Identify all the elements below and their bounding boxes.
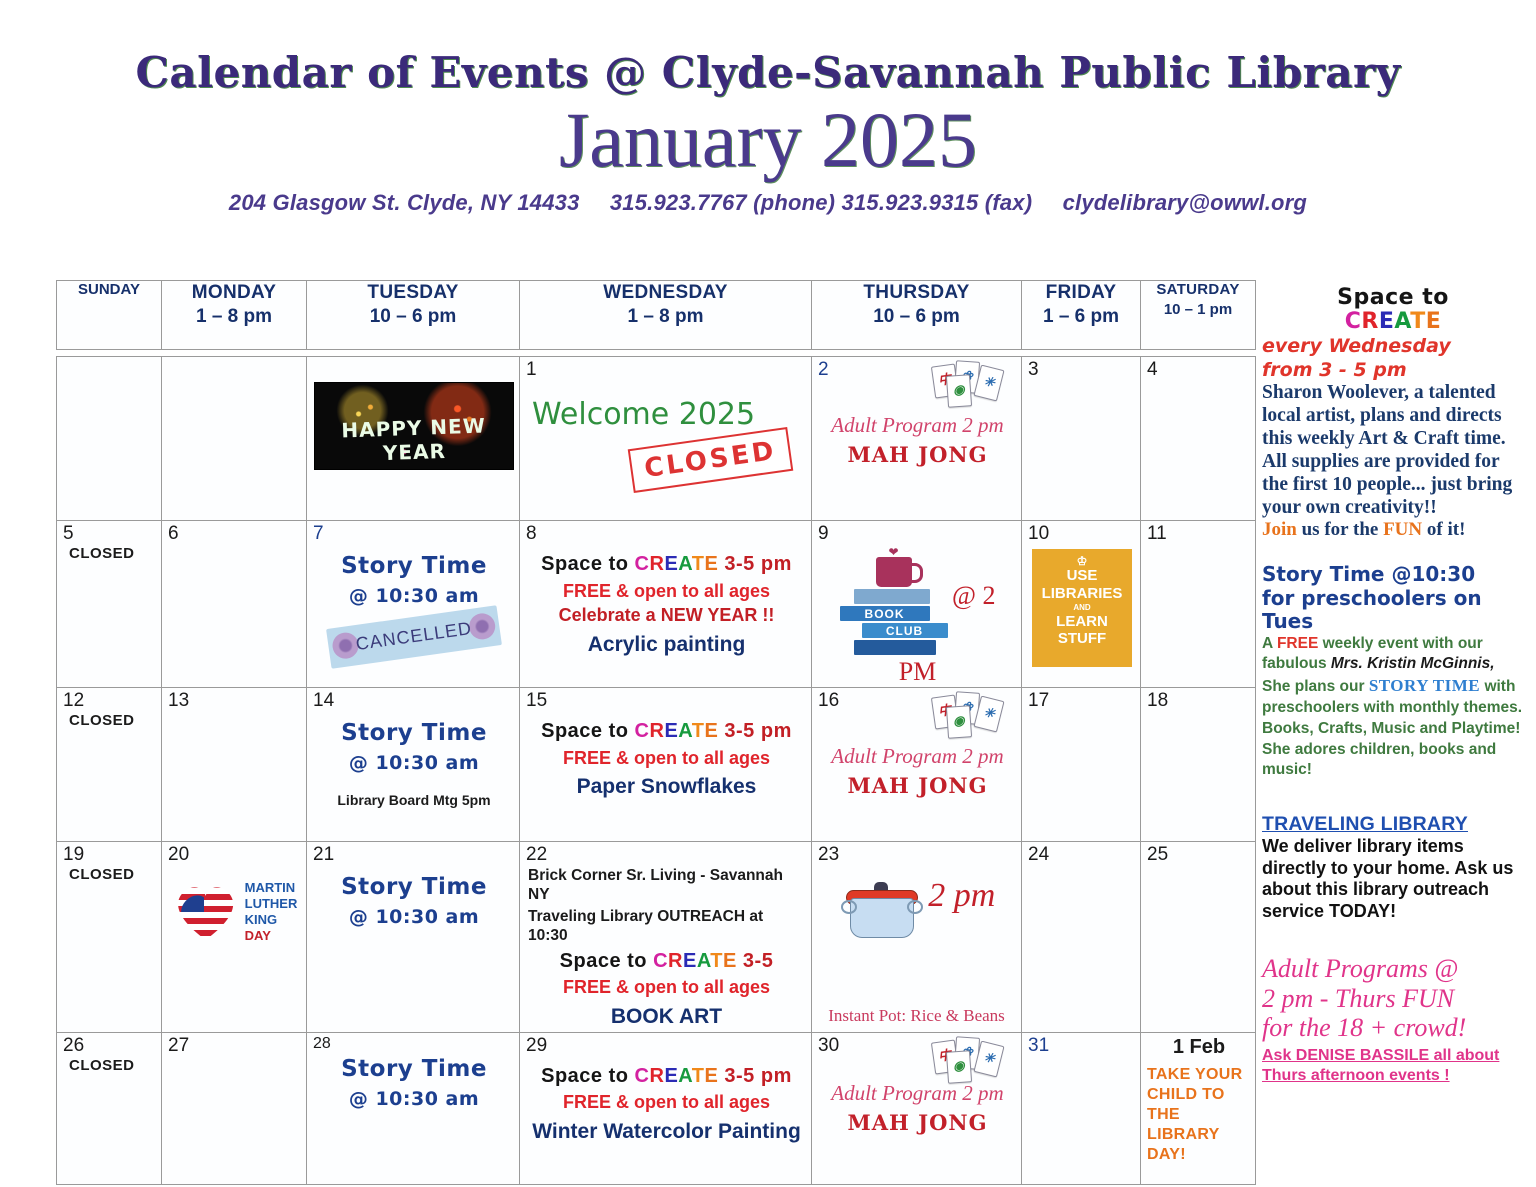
- story-time-time: @ 10:30 am: [313, 752, 515, 774]
- page-title: Calendar of Events @ Clyde-Savannah Publ…: [0, 52, 1536, 94]
- book-icon: CLUB: [862, 623, 948, 638]
- week-row-4: 19 CLOSED 20 MARTIN LUTHER KING DAY 21: [57, 842, 1256, 1033]
- day-cell-8[interactable]: 8 Space to CREATE 3-5 pm FREE & open to …: [520, 521, 812, 688]
- day-cell-3[interactable]: 3: [1022, 357, 1141, 521]
- day-number: 29: [526, 1036, 807, 1055]
- contact-line: 204 Glasgow St. Clyde, NY 14433 315.923.…: [0, 190, 1536, 216]
- create-time: 3-5 pm: [724, 553, 791, 575]
- book-icon: [854, 640, 936, 655]
- space-to-create-block: Space to CREATE 3-5 pm FREE & open to al…: [526, 718, 807, 802]
- space-to-text: Space to: [541, 720, 628, 742]
- day-cell-14[interactable]: 14 Story Time @ 10:30 am Library Board M…: [307, 688, 520, 842]
- day-cell-7[interactable]: 7 Story Time @ 10:30 am CANCELLED: [307, 521, 520, 688]
- sidebar-story-time-title: Story Time @10:30: [1262, 563, 1524, 587]
- day-number: 10: [1028, 524, 1136, 543]
- welcome-2025-text: Welcome 2025: [532, 397, 807, 432]
- calendar-grid: SUNDAY MONDAY 1 – 8 pm TUESDAY 10 – 6 pm…: [56, 280, 1255, 1185]
- day-number: 14: [313, 691, 515, 710]
- create-word: CREATE: [635, 1065, 719, 1087]
- create-time: 3-5: [743, 950, 773, 972]
- day-cell-10[interactable]: 10 ♔ USE LIBRARIES AND LEARN STUFF: [1022, 521, 1141, 688]
- library-address: 204 Glasgow St. Clyde, NY 14433: [229, 190, 580, 215]
- story-time-label: Story Time @ 10:30 am: [313, 1056, 515, 1110]
- column-header-thursday: THURSDAY 10 – 6 pm: [812, 281, 1022, 350]
- day-cell-27[interactable]: 27: [162, 1032, 307, 1184]
- week-row-1: HAPPY NEW YEAR 1 Welcome 2025 CLOSED 2 中…: [57, 357, 1256, 521]
- instant-pot-icon: [840, 880, 924, 938]
- day-number: 18: [1147, 691, 1251, 710]
- day-cell-feb-1[interactable]: 1 Feb TAKE YOUR CHILD TO THE LIBRARY DAY…: [1141, 1032, 1256, 1184]
- create-word: CREATE: [635, 720, 719, 742]
- free-all-ages: FREE & open to all ages: [526, 1090, 807, 1115]
- day-number: 22: [526, 845, 807, 864]
- mlk-line-1: MARTIN: [245, 880, 298, 896]
- week-row-5: 26 CLOSED 27 28 Story Time @ 10:30 am 29…: [57, 1032, 1256, 1184]
- column-header-friday: FRIDAY 1 – 6 pm: [1022, 281, 1141, 350]
- day-number: 1: [526, 360, 807, 379]
- day-number: 25: [1147, 845, 1251, 864]
- coffee-mug-icon: [876, 557, 912, 587]
- create-time: 3-5 pm: [724, 1065, 791, 1087]
- day-number: 3: [1028, 360, 1136, 379]
- day-cell-6[interactable]: 6: [162, 521, 307, 688]
- book-icon: [854, 589, 930, 604]
- day-cell-21[interactable]: 21 Story Time @ 10:30 am: [307, 842, 520, 1033]
- story-time-label: Story Time @ 10:30 am: [313, 720, 515, 774]
- week-row-3: 12 CLOSED 13 14 Story Time @ 10:30 am Li…: [57, 688, 1256, 842]
- day-cell-18[interactable]: 18: [1141, 688, 1256, 842]
- outreach-line-1: Brick Corner Sr. Living - Savannah NY: [528, 866, 807, 905]
- sidebar-ap-line-2: 2 pm - Thurs FUN: [1262, 984, 1524, 1013]
- take-child-to-library-day: TAKE YOUR CHILD TO THE LIBRARY DAY!: [1147, 1065, 1251, 1165]
- adult-program-label: Adult Program 2 pm: [818, 413, 1017, 438]
- create-word: CREATE: [635, 553, 719, 575]
- mlk-day-block: MARTIN LUTHER KING DAY: [168, 880, 302, 944]
- sidebar-story-time-body: A FREE weekly event with our fabulous Mr…: [1262, 634, 1524, 781]
- free-all-ages: FREE & open to all ages: [526, 975, 807, 1000]
- day-number: 21: [313, 845, 515, 864]
- cancelled-text: CANCELLED: [327, 614, 500, 659]
- sidebar-adult-programs: Adult Programs @ 2 pm - Thurs FUN for th…: [1262, 954, 1524, 1086]
- story-time-word: STORY TIME: [1369, 676, 1480, 695]
- day-number: 31: [1028, 1036, 1136, 1055]
- day-cell-4[interactable]: 4: [1141, 357, 1256, 521]
- event-block: Story Time @ 10:30 am: [313, 1056, 515, 1110]
- day-cell-22[interactable]: 22 Brick Corner Sr. Living - Savannah NY…: [520, 842, 812, 1033]
- story-time-title: Story Time: [341, 720, 487, 746]
- day-number: 27: [168, 1036, 302, 1055]
- mahjong-tiles-icon: 中❀✳◉: [933, 361, 1007, 413]
- sidebar-stc-when-1: every Wednesday: [1262, 336, 1524, 357]
- instructor-name: Mrs. Kristin McGinnis,: [1331, 655, 1495, 672]
- day-number: 7: [313, 524, 515, 543]
- library-email[interactable]: clydelibrary@owwl.org: [1063, 190, 1308, 215]
- day-number: 11: [1147, 524, 1251, 543]
- space-to-text: Space to: [541, 1065, 628, 1087]
- column-header-saturday: SATURDAY 10 – 1 pm: [1141, 281, 1256, 350]
- day-cell-empty: [162, 357, 307, 521]
- create-time: 3-5 pm: [724, 720, 791, 742]
- mlk-day-text: MARTIN LUTHER KING DAY: [245, 880, 298, 944]
- book-club-text: BOOK: [840, 607, 930, 621]
- library-board-meeting: Library Board Mtg 5pm: [313, 792, 515, 808]
- cancelled-stamp: CANCELLED: [326, 605, 502, 669]
- activity-name: BOOK ART: [526, 1003, 807, 1032]
- instant-pot-label: Instant Pot: Rice & Beans: [812, 1006, 1021, 1026]
- day-number: 6: [168, 524, 302, 543]
- event-block: Story Time @ 10:30 am Library Board Mtg …: [313, 720, 515, 808]
- activity-name: Acrylic painting: [526, 631, 807, 660]
- event-block: Story Time @ 10:30 am CANCELLED: [313, 553, 515, 657]
- event-block: Adult Program 2 pm MAH JONG: [818, 413, 1017, 467]
- closed-label: CLOSED: [69, 712, 157, 729]
- poster-line-3: LEARN: [1032, 613, 1132, 630]
- day-number: 15: [526, 691, 807, 710]
- mlk-line-2: LUTHER: [245, 896, 298, 912]
- day-cell-5[interactable]: 5 CLOSED: [57, 521, 162, 688]
- day-number: 23: [818, 845, 1017, 864]
- day-cell-15[interactable]: 15 Space to CREATE 3-5 pm FREE & open to…: [520, 688, 812, 842]
- day-cell-12[interactable]: 12 CLOSED: [57, 688, 162, 842]
- story-time-title: Story Time: [341, 553, 487, 579]
- space-to-create-block: Space to CREATE 3-5 FREE & open to all a…: [526, 948, 807, 1032]
- day-cell-16[interactable]: 16 中❀✳◉ Adult Program 2 pm MAH JONG: [812, 688, 1022, 842]
- column-header-wednesday: WEDNESDAY 1 – 8 pm: [520, 281, 812, 350]
- sidebar-story-time-subtitle: for preschoolers on Tues: [1262, 587, 1524, 634]
- month-year-title: January 2025: [0, 100, 1536, 180]
- day-cell-9[interactable]: 9 ❤ BOOK CLUB @ 2 PM: [812, 521, 1022, 688]
- outreach-line-2: Traveling Library OUTREACH at 10:30: [528, 907, 807, 946]
- mahjong-tiles-icon: 中❀✳◉: [933, 692, 1007, 744]
- story-time-time: @ 10:30 am: [313, 585, 515, 607]
- day-cell-30[interactable]: 30 中❀✳◉ Adult Program 2 pm MAH JONG: [812, 1032, 1022, 1184]
- day-cell-20[interactable]: 20 MARTIN LUTHER KING DAY: [162, 842, 307, 1033]
- story-time-title: Story Time: [341, 874, 487, 900]
- space-to-create-block: Space to CREATE 3-5 pm FREE & open to al…: [526, 1063, 807, 1147]
- event-block: Story Time @ 10:30 am: [313, 874, 515, 928]
- day-cell-31[interactable]: 31: [1022, 1032, 1141, 1184]
- info-sidebar: Space to CREATE every Wednesday from 3 -…: [1262, 286, 1524, 1101]
- day-cell-1[interactable]: 1 Welcome 2025 CLOSED: [520, 357, 812, 521]
- join-post: of it!: [1422, 519, 1465, 540]
- sidebar-stc-body: Sharon Woolever, a talented local artist…: [1262, 381, 1524, 519]
- space-to-text: Space to: [541, 553, 628, 575]
- story-time-label: Story Time @ 10:30 am: [313, 874, 515, 928]
- day-number: 24: [1028, 845, 1136, 864]
- heart-icon: ❤: [840, 547, 948, 557]
- sidebar-traveling-library: TRAVELING LIBRARY We deliver library ite…: [1262, 813, 1524, 922]
- space-to-create-block: Space to CREATE 3-5 pm FREE & open to al…: [526, 551, 807, 660]
- adult-program-label: Adult Program 2 pm: [818, 744, 1017, 769]
- sidebar-tl-body: We deliver library items directly to you…: [1262, 836, 1524, 922]
- fun-word: FUN: [1383, 519, 1422, 540]
- day-cell-17[interactable]: 17: [1022, 688, 1141, 842]
- day-cell-28[interactable]: 28 Story Time @ 10:30 am: [307, 1032, 520, 1184]
- poster-line-1: USE: [1032, 567, 1132, 585]
- closed-label: CLOSED: [69, 866, 157, 883]
- column-header-tuesday: TUESDAY 10 – 6 pm: [307, 281, 520, 350]
- join-mid: us for the: [1297, 519, 1383, 540]
- sidebar-stc-when-2: from 3 - 5 pm: [1262, 360, 1524, 381]
- feb-1-label: 1 Feb: [1147, 1036, 1251, 1059]
- st-body-3: She plans our: [1262, 678, 1369, 695]
- book-club-icon: ❤ BOOK CLUB: [840, 547, 948, 657]
- sidebar-st-title-time: @10:30: [1384, 562, 1475, 586]
- happy-new-year-text: HAPPY NEW YEAR: [314, 412, 514, 467]
- day-number: 9: [818, 524, 1017, 543]
- sidebar-stc-join: Join us for the FUN of it!: [1262, 519, 1524, 541]
- sidebar-tl-title: TRAVELING LIBRARY: [1262, 813, 1524, 836]
- day-number: 26: [63, 1036, 157, 1055]
- story-time-time: @ 10:30 am: [313, 1088, 515, 1110]
- day-cell-19[interactable]: 19 CLOSED: [57, 842, 162, 1033]
- event-block: Adult Program 2 pm MAH JONG: [818, 1081, 1017, 1135]
- day-number: 13: [168, 691, 302, 710]
- sidebar-space-to-text: Space to: [1337, 285, 1449, 310]
- day-number: 19: [63, 845, 157, 864]
- day-cell-empty: [57, 357, 162, 521]
- library-phone-fax: 315.923.7767 (phone) 315.923.9315 (fax): [610, 190, 1032, 215]
- activity-name: Paper Snowflakes: [526, 773, 807, 802]
- poster-and: AND: [1032, 602, 1132, 613]
- book-icon: BOOK: [840, 606, 930, 621]
- event-block: 2 pm: [818, 866, 1017, 938]
- use-libraries-poster: ♔ USE LIBRARIES AND LEARN STUFF: [1032, 549, 1132, 667]
- poster-line-2: LIBRARIES: [1032, 585, 1132, 602]
- event-block: ❤ BOOK CLUB @ 2 PM: [818, 543, 1017, 687]
- day-cell-24[interactable]: 24: [1022, 842, 1141, 1033]
- day-cell-11[interactable]: 11: [1141, 521, 1256, 688]
- day-number: 28: [313, 1036, 515, 1052]
- day-cell-29[interactable]: 29 Space to CREATE 3-5 pm FREE & open to…: [520, 1032, 812, 1184]
- closed-label: CLOSED: [69, 545, 157, 562]
- day-number: 17: [1028, 691, 1136, 710]
- st-body-1: A: [1262, 635, 1277, 652]
- event-block: Adult Program 2 pm MAH JONG: [818, 744, 1017, 798]
- sidebar-create-word: CREATE: [1345, 309, 1442, 334]
- day-number: 12: [63, 691, 157, 710]
- book-club-text: CLUB: [862, 624, 948, 638]
- mlk-line-4: DAY: [245, 928, 298, 944]
- day-cell-newyear-image: HAPPY NEW YEAR: [307, 357, 520, 521]
- closed-stamp-wrap: CLOSED: [526, 438, 791, 482]
- column-header-monday: MONDAY 1 – 8 pm: [162, 281, 307, 350]
- instant-pot-time: 2 pm: [928, 877, 995, 914]
- day-number: 20: [168, 845, 302, 864]
- sidebar-ap-line-1: Adult Programs @: [1262, 954, 1524, 983]
- story-time-time: @ 10:30 am: [313, 906, 515, 928]
- day-cell-13[interactable]: 13: [162, 688, 307, 842]
- join-word: Join: [1262, 519, 1297, 540]
- crown-icon: ♔: [1032, 555, 1132, 567]
- free-all-ages: FREE & open to all ages: [526, 579, 807, 604]
- sidebar-st-title-main: Story Time: [1262, 562, 1384, 586]
- celebrate-new-year: Celebrate a NEW YEAR !!: [526, 603, 807, 628]
- mlk-line-3: KING: [245, 912, 298, 928]
- day-cell-2[interactable]: 2 中❀✳◉ Adult Program 2 pm MAH JONG: [812, 357, 1022, 521]
- sidebar-ap-line-3: for the 18 + crowd!: [1262, 1013, 1524, 1042]
- page-header: Calendar of Events @ Clyde-Savannah Publ…: [0, 0, 1536, 216]
- day-cell-23[interactable]: 23 2 pm Instant Pot: Rice & Beans: [812, 842, 1022, 1033]
- week-row-2: 5 CLOSED 6 7 Story Time @ 10:30 am CANCE…: [57, 521, 1256, 688]
- create-word: CREATE: [653, 950, 737, 972]
- mahjong-tiles-icon: 中❀✳◉: [933, 1037, 1007, 1089]
- story-time-label: Story Time @ 10:30 am: [313, 553, 515, 607]
- sidebar-story-time: Story Time @10:30 for preschoolers on Tu…: [1262, 563, 1524, 781]
- mah-jong-label: MAH JONG: [818, 773, 1017, 798]
- column-header-sunday: SUNDAY: [57, 281, 162, 350]
- space-to-create-headline: Space to CREATE 3-5 pm: [526, 1063, 807, 1091]
- mah-jong-label: MAH JONG: [818, 1110, 1017, 1135]
- closed-label: CLOSED: [69, 1057, 157, 1074]
- free-all-ages: FREE & open to all ages: [526, 746, 807, 771]
- story-time-title: Story Time: [341, 1056, 487, 1082]
- free-word: FREE: [1277, 635, 1318, 652]
- mah-jong-label: MAH JONG: [818, 442, 1017, 467]
- heart-flag-icon: [173, 882, 239, 942]
- day-number: 8: [526, 524, 807, 543]
- activity-name: Winter Watercolor Painting: [526, 1118, 807, 1147]
- closed-stamp: CLOSED: [628, 427, 793, 493]
- space-to-create-headline: Space to CREATE 3-5 pm: [526, 718, 807, 746]
- sidebar-stc-title: Space to CREATE: [1262, 286, 1524, 334]
- poster-line-4: STUFF: [1032, 630, 1132, 647]
- space-to-create-headline: Space to CREATE 3-5: [526, 948, 807, 976]
- day-number: 5: [63, 524, 157, 543]
- weekday-header-row: SUNDAY MONDAY 1 – 8 pm TUESDAY 10 – 6 pm…: [57, 281, 1256, 350]
- sidebar-ap-ask: Ask DENISE BASSILE all about Thurs after…: [1262, 1046, 1524, 1087]
- day-cell-25[interactable]: 25: [1141, 842, 1256, 1033]
- sidebar-space-to-create: Space to CREATE every Wednesday from 3 -…: [1262, 286, 1524, 541]
- space-to-text: Space to: [560, 950, 647, 972]
- space-to-create-headline: Space to CREATE 3-5 pm: [526, 551, 807, 579]
- happy-new-year-image: HAPPY NEW YEAR: [314, 382, 514, 470]
- day-number: 4: [1147, 360, 1251, 379]
- day-cell-26[interactable]: 26 CLOSED: [57, 1032, 162, 1184]
